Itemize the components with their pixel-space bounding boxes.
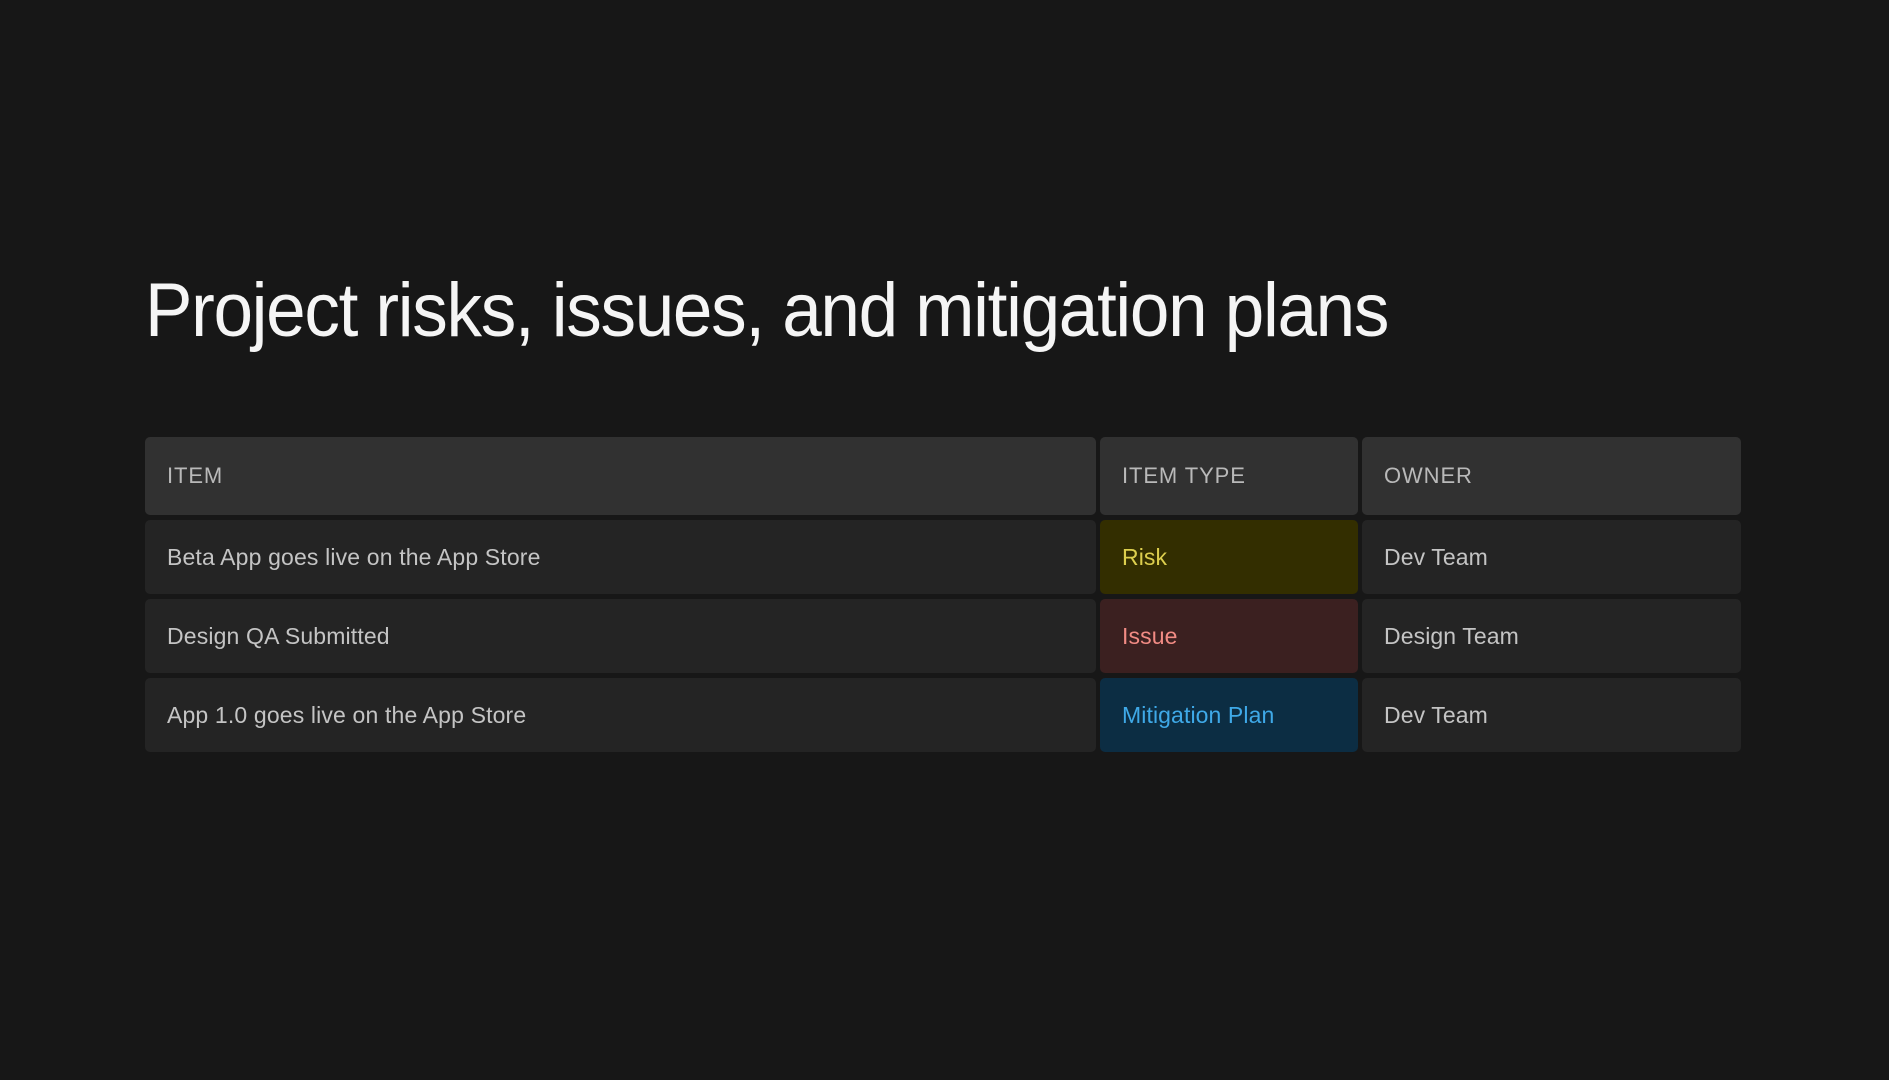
cell-item[interactable]: App 1.0 goes live on the App Store — [145, 678, 1096, 752]
column-header-item[interactable]: ITEM — [145, 437, 1096, 515]
cell-owner[interactable]: Dev Team — [1362, 678, 1741, 752]
table-row[interactable]: Design QA Submitted Issue Design Team — [145, 599, 1743, 673]
cell-item[interactable]: Design QA Submitted — [145, 599, 1096, 673]
cell-item-type-badge[interactable]: Mitigation Plan — [1100, 678, 1358, 752]
page-title: Project risks, issues, and mitigation pl… — [145, 268, 1641, 353]
risk-issue-mitigation-table: ITEM ITEM TYPE OWNER Beta App goes live … — [145, 437, 1743, 752]
slide-canvas: Project risks, issues, and mitigation pl… — [0, 0, 1889, 1080]
table-row[interactable]: Beta App goes live on the App Store Risk… — [145, 520, 1743, 594]
table-row[interactable]: App 1.0 goes live on the App Store Mitig… — [145, 678, 1743, 752]
column-header-item-type[interactable]: ITEM TYPE — [1100, 437, 1358, 515]
cell-owner[interactable]: Dev Team — [1362, 520, 1741, 594]
column-header-owner[interactable]: OWNER — [1362, 437, 1741, 515]
cell-item-type-badge[interactable]: Issue — [1100, 599, 1358, 673]
cell-item-type-badge[interactable]: Risk — [1100, 520, 1358, 594]
cell-owner[interactable]: Design Team — [1362, 599, 1741, 673]
table-header-row: ITEM ITEM TYPE OWNER — [145, 437, 1743, 515]
cell-item[interactable]: Beta App goes live on the App Store — [145, 520, 1096, 594]
